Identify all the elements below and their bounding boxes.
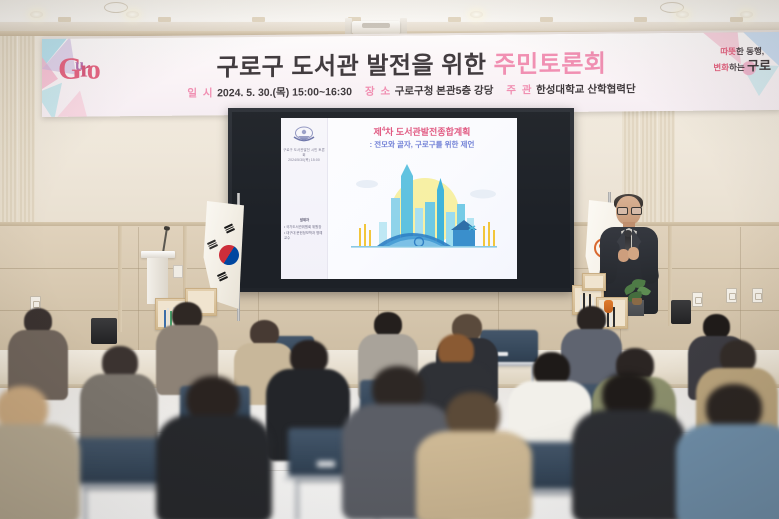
slide-sidebar-presenter: 발제자 • 국가도서관위원회 위원장 • 대구대 문헌정보학과 명예교수: [284, 218, 325, 241]
downlight-icon: [676, 11, 689, 18]
event-banner: Guro 구로구 도서관 발전을 위한 주민토론회 일 시2024. 5. 30…: [42, 30, 779, 117]
slide-sidebar-caption-date: 2024/5/30(목) 15:00: [283, 158, 325, 163]
ceiling-vent: [448, 17, 461, 22]
city-skyline-illustration-icon: [333, 160, 513, 272]
ceiling-vent: [158, 17, 171, 22]
place-value: 구로구청 본관5층 강당: [395, 85, 494, 98]
host-label: 주 관: [506, 84, 533, 96]
banner-title-main: 구로구 도서관 발전을 위한: [217, 52, 494, 82]
trigram-icon: [217, 271, 228, 281]
downlight-icon: [30, 11, 43, 18]
slide-presenter-line1: • 국가도서관위원회 위원장: [284, 225, 325, 230]
institution-emblem-icon: [290, 124, 318, 146]
slide-title-pre: 제: [374, 127, 382, 137]
wall-control-panel: [173, 265, 183, 278]
district-slogan: 따뜻한 동행, 변화하는 구로: [713, 46, 771, 76]
slide-sidebar-caption: 구로구 도서관발전 시민 토론회 2024/5/30(목) 15:00: [283, 148, 325, 163]
slogan-hl-2: 변화: [713, 63, 729, 73]
date-value: 2024. 5. 30.(목) 15:00~16:30: [217, 86, 352, 99]
taeguk-symbol-icon: [215, 241, 242, 268]
ceiling-vent: [540, 17, 553, 22]
host-value: 한성대학교 산학협력단: [536, 83, 636, 96]
presenter-hand: [628, 247, 639, 260]
slide-presenter-heading: 발제자: [284, 218, 325, 223]
ceiling-ring-light: [104, 2, 128, 13]
wall-slat-panel: [18, 36, 35, 226]
slide-presenter-line2: • 대구대 문헌정보학과 명예교수: [284, 231, 325, 242]
slogan-guro: 구로: [747, 58, 771, 73]
slide-title-post: 차 도서관발전종합계획: [385, 127, 470, 137]
banner-title: 구로구 도서관 발전을 위한 주민토론회: [42, 42, 779, 84]
banner-details: 일 시2024. 5. 30.(목) 15:00~16:30장 소구로구청 본관…: [42, 80, 779, 102]
trigram-icon: [207, 239, 218, 249]
place-label: 장 소: [365, 86, 392, 98]
slogan-hl-1: 따뜻: [720, 46, 736, 56]
date-label: 일 시: [187, 87, 214, 99]
ceiling-vent: [634, 17, 647, 22]
slide-title: 제4차 도서관발전종합계획: [327, 125, 517, 138]
slogan-rest-2: 하는: [729, 63, 747, 73]
slide-subtitle: : 전모와 골자, 구로구를 위한 제언: [327, 139, 517, 150]
downlight-icon: [126, 11, 139, 18]
book-cube: [582, 273, 606, 291]
conference-hall-photo: Guro 구로구 도서관 발전을 위한 주민토론회 일 시2024. 5. 30…: [0, 0, 779, 519]
eyeglasses-icon: [617, 207, 640, 213]
slide-sidebar-caption-text: 구로구 도서관발전 시민 토론회: [283, 148, 325, 158]
lectern-top: [141, 251, 175, 258]
presentation-slide: 구로구 도서관발전 시민 토론회 2024/5/30(목) 15:00 발제자 …: [281, 118, 517, 279]
ceiling-vent: [252, 17, 265, 22]
ceiling-vent: [730, 17, 743, 22]
audience-area: [0, 300, 779, 519]
wall-slat-panel: [0, 36, 17, 226]
ceiling-vent: [58, 17, 71, 22]
banner-title-accent: 주민토론회: [494, 51, 607, 79]
trigram-icon: [224, 223, 235, 233]
downlight-icon: [470, 11, 483, 18]
slogan-rest-1: 한 동행,: [736, 46, 764, 56]
